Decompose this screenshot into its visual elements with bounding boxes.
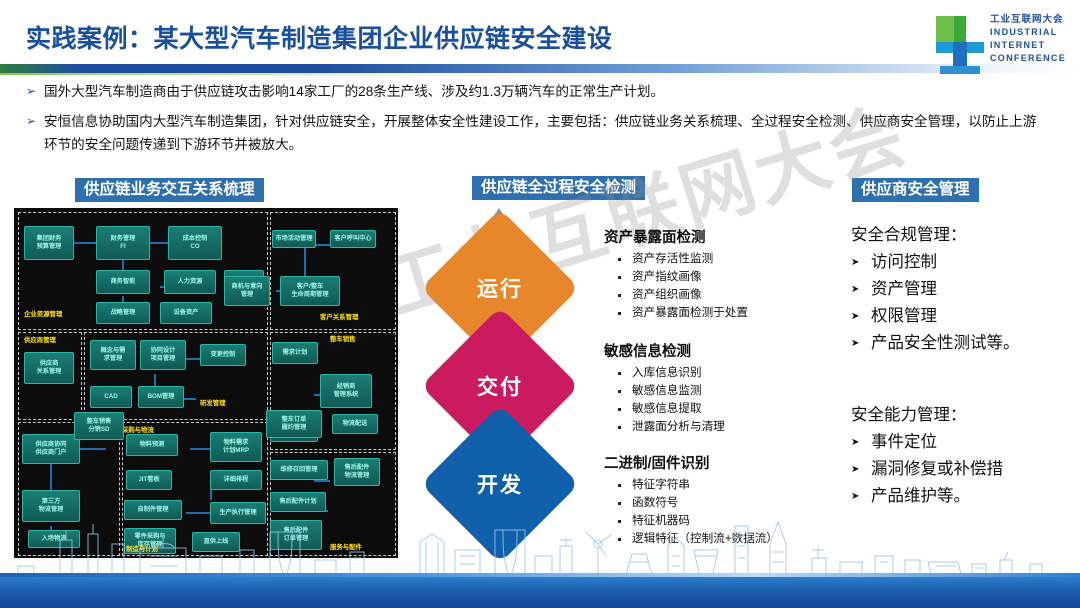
supplier-block-capability: 安全能力管理： 事件定位 漏洞修复或补偿措 产品维护等。 xyxy=(851,402,1077,510)
detection-title: 资产暴露面检测 xyxy=(604,226,854,247)
bottom-brand-band xyxy=(0,576,1080,608)
bullet-text: 安恒信息协助国内大型汽车制造集团，针对供应链安全，开展整体安全性建设工作，主要包… xyxy=(44,110,1046,156)
list-item: 产品安全性测试等。 xyxy=(851,330,1077,357)
list-item: 权限管理 xyxy=(851,303,1077,330)
city-skyline-illustration xyxy=(0,516,1080,578)
node: 客户/整车生命周期管理 xyxy=(280,276,340,306)
list-item: 漏洞修复或补偿措 xyxy=(851,456,1077,483)
detection-block-asset-exposure: 资产暴露面检测 资产存活性监测 资产指纹画像 资产组织画像 资产暴露面检测于处置 xyxy=(604,226,854,322)
node: 详细排程 xyxy=(210,470,262,490)
list-item: ➢ 国外大型汽车制造商由于供应链攻击影响14家工厂的28条生产线、涉及约1.3万… xyxy=(26,80,1046,103)
node: 物流配送 xyxy=(332,414,378,434)
node: 客户呼叫中心 xyxy=(330,230,376,248)
node: 整车订单履约管理 xyxy=(266,410,322,438)
list-item: 资产暴露面检测于处置 xyxy=(604,304,854,322)
section-header-supplier-security: 供应商安全管理 xyxy=(852,178,979,202)
arrow-bullet-icon: ➢ xyxy=(26,110,44,156)
node: 经销商管理系统 xyxy=(320,374,372,408)
list-item: 产品维护等。 xyxy=(851,483,1077,510)
list-item: 特征字符串 xyxy=(604,476,854,494)
node: 概念与需求管理 xyxy=(90,340,136,370)
logo-text: 工业互联网大会 INDUSTRIAL INTERNET CONFERENCE xyxy=(990,14,1066,65)
detection-items: 资产存活性监测 资产指纹画像 资产组织画像 资产暴露面检测于处置 xyxy=(604,250,854,322)
node: 设备资产 xyxy=(160,302,212,324)
connector xyxy=(190,448,210,450)
list-item: 资产存活性监测 xyxy=(604,250,854,268)
logo-green-block-dark xyxy=(954,16,966,42)
list-item: 函数符号 xyxy=(604,494,854,512)
section-header-full-process-detection: 供应链全过程安全检测 xyxy=(472,176,645,200)
list-item: 资产指纹画像 xyxy=(604,268,854,286)
diagram-group-label: 研发管理 xyxy=(200,398,226,407)
logo-title-en-3: CONFERENCE xyxy=(990,52,1066,65)
list-item: 事件定位 xyxy=(851,429,1077,456)
node: 物料需求计划MRP xyxy=(210,432,262,462)
detection-block-sensitive-info: 敏感信息检测 入库信息识别 敏感信息监测 敏感信息提取 泄露面分析与清理 xyxy=(604,340,854,436)
diagram-group-label: 客户关系管理 xyxy=(320,312,358,321)
page-title: 实践案例：某大型汽车制造集团企业供应链安全建设 xyxy=(26,19,613,55)
connector xyxy=(314,480,330,482)
section-header-supply-chain-mapping: 供应链业务交互关系梳理 xyxy=(75,178,264,202)
block-items: 事件定位 漏洞修复或补偿措 产品维护等。 xyxy=(851,429,1077,510)
bullet-list: ➢ 国外大型汽车制造商由于供应链攻击影响14家工厂的28条生产线、涉及约1.3万… xyxy=(26,80,1046,163)
list-item: 资产组织画像 xyxy=(604,286,854,304)
supply-chain-diagram: 集团财务预算管理 财务管理FI 成本控制CO 商务智能 人力资源 质量控制 战略… xyxy=(14,208,398,558)
header-divider-accent xyxy=(0,73,1080,75)
node: 变更控制 xyxy=(200,344,246,366)
node: 整车销售分销SD xyxy=(74,412,124,440)
node: 物料预测 xyxy=(126,434,178,456)
conference-logo: 工业互联网大会 INDUSTRIAL INTERNET CONFERENCE xyxy=(936,14,1068,76)
diagram-group-label: 供应商管理 xyxy=(22,334,58,345)
logo-title-cn: 工业互联网大会 xyxy=(990,14,1066,26)
node: 售后配件物流管理 xyxy=(334,458,380,486)
connector xyxy=(182,398,196,400)
logo-title-en-1: INDUSTRIAL xyxy=(990,26,1066,39)
list-item: ➢ 安恒信息协助国内大型汽车制造集团，针对供应链安全，开展整体安全性建设工作，主… xyxy=(26,110,1046,156)
block-title: 安全能力管理： xyxy=(851,402,1077,429)
node: 战略管理 xyxy=(96,302,150,324)
node: 集团财务预算管理 xyxy=(24,226,74,260)
node: 财务管理FI xyxy=(96,226,150,260)
connector xyxy=(314,244,330,246)
node: 供应商关系管理 xyxy=(24,352,74,384)
logo-foot xyxy=(940,66,980,74)
connector xyxy=(150,242,168,244)
detection-items: 入库信息识别 敏感信息监测 敏感信息提取 泄露面分析与清理 xyxy=(604,364,854,436)
list-item: 泄露面分析与清理 xyxy=(604,418,854,436)
node: 商务智能 xyxy=(96,270,150,294)
slide-root: 实践案例：某大型汽车制造集团企业供应链安全建设 工业互联网大会 INDUSTRI… xyxy=(0,0,1080,608)
list-item: 资产管理 xyxy=(851,276,1077,303)
node: 商机与意向管理 xyxy=(224,276,270,306)
node: 人力资源 xyxy=(164,270,216,294)
arrow-bullet-icon: ➢ xyxy=(26,80,44,103)
diagram-group-label: 企业资源管理 xyxy=(22,308,64,319)
block-title: 安全合规管理： xyxy=(851,222,1077,249)
block-items: 访问控制 资产管理 权限管理 产品安全性测试等。 xyxy=(851,249,1077,357)
node: 维修召回管理 xyxy=(270,460,328,480)
connector xyxy=(186,512,212,514)
node: 供应商协同供应商门户 xyxy=(22,434,80,464)
logo-mark-icon xyxy=(936,16,984,74)
logo-title-en-2: INTERNET xyxy=(990,39,1066,52)
diagram-group-label: 整车销售 xyxy=(330,334,356,343)
list-item: 入库信息识别 xyxy=(604,364,854,382)
header-divider xyxy=(0,64,1080,73)
detection-title: 敏感信息检测 xyxy=(604,340,854,361)
connector xyxy=(184,358,200,360)
list-item: 敏感信息提取 xyxy=(604,400,854,418)
node: 需求计划 xyxy=(272,342,318,364)
connector xyxy=(80,448,106,450)
node: 成本控制CO xyxy=(168,226,222,260)
list-item: 访问控制 xyxy=(851,249,1077,276)
bullet-text: 国外大型汽车制造商由于供应链攻击影响14家工厂的28条生产线、涉及约1.3万辆汽… xyxy=(44,80,1046,103)
supplier-block-compliance: 安全合规管理： 访问控制 资产管理 权限管理 产品安全性测试等。 xyxy=(851,222,1077,357)
node: 协同设计项目管理 xyxy=(140,340,186,370)
node: CAD xyxy=(90,386,132,408)
connector xyxy=(50,464,52,490)
node: BOM管理 xyxy=(138,386,184,408)
node: JIT看板 xyxy=(126,470,172,490)
connector xyxy=(74,242,96,244)
list-item: 敏感信息监测 xyxy=(604,382,854,400)
node: 售后配件计划 xyxy=(270,492,326,512)
node: 市场活动管理 xyxy=(272,230,316,248)
detection-title: 二进制/固件识别 xyxy=(604,452,854,473)
